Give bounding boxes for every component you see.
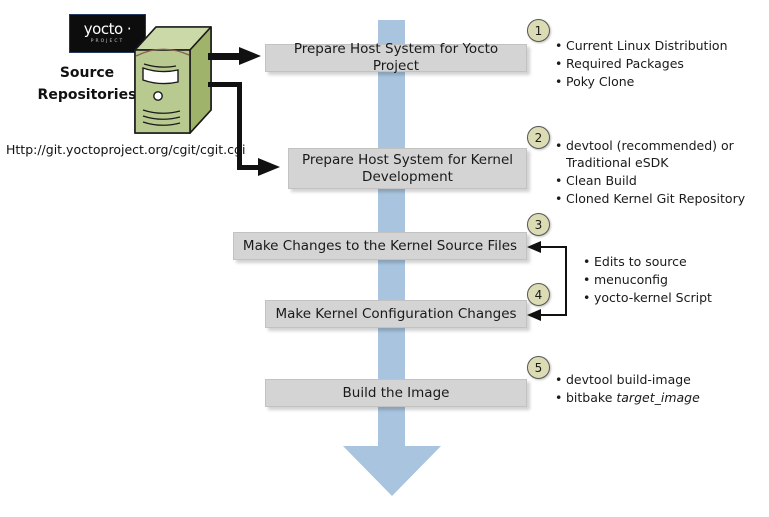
step-badge-5: 5 <box>527 356 550 379</box>
source-label-line1: Source <box>28 62 146 84</box>
list-item: Clean Build <box>566 172 767 189</box>
process-box-build-the-image[interactable]: Build the Image <box>265 379 527 407</box>
list-item: yocto-kernel Script <box>594 289 765 306</box>
list-item: Required Packages <box>566 55 767 72</box>
step-badge-4: 4 <box>527 283 550 306</box>
bitbake-command-text: bitbake <box>566 390 616 405</box>
arrowhead-to-box2-icon <box>258 158 280 176</box>
arrowhead-to-box1-icon <box>239 47 261 65</box>
list-item: Current Linux Distribution <box>566 37 767 54</box>
step-badge-1: 1 <box>527 19 550 42</box>
arrowhead-to-box3-icon <box>527 241 541 253</box>
notes-steps-3-and-4: Edits to source menuconfig yocto-kernel … <box>580 253 765 307</box>
step-badge-3: 3 <box>527 213 550 236</box>
arrowhead-to-box4-icon <box>527 309 541 321</box>
list-item: Poky Clone <box>566 73 767 90</box>
connector-source-to-box2-segment2 <box>237 82 242 170</box>
diagram-canvas: yocto PROJECT Source Repositories Http:/… <box>0 0 769 517</box>
bracket-branch-to-box4 <box>540 314 567 316</box>
list-item: devtool (recommended) or Traditional eSD… <box>566 137 767 171</box>
notes-step-2: devtool (recommended) or Traditional eSD… <box>552 137 767 208</box>
server-tower-icon <box>134 26 212 134</box>
source-label-line2: Repositories <box>28 84 146 106</box>
yocto-logo-subtext: PROJECT <box>91 38 124 45</box>
notes-step-1: Current Linux Distribution Required Pack… <box>552 37 767 91</box>
step-badge-2: 2 <box>527 126 550 149</box>
process-box-make-kernel-config-changes[interactable]: Make Kernel Configuration Changes <box>265 300 527 328</box>
flow-arrow-head <box>343 446 441 496</box>
list-item: bitbake target_image <box>566 389 767 406</box>
bracket-vertical-steps-3-4 <box>565 248 567 316</box>
source-repository-url: Http://git.yoctoproject.org/cgit/cgit.cg… <box>6 142 245 157</box>
list-item: menuconfig <box>594 271 765 288</box>
bracket-branch-to-box3 <box>540 246 567 248</box>
yocto-logo-wordmark: yocto <box>84 22 131 37</box>
notes-step-5: devtool build-image bitbake target_image <box>552 371 767 407</box>
list-item: Edits to source <box>594 253 765 270</box>
list-item: devtool build-image <box>566 371 767 388</box>
process-box-prepare-host-yocto[interactable]: Prepare Host System for Yocto Project <box>265 44 527 72</box>
process-box-prepare-host-kernel[interactable]: Prepare Host System for Kernel Developme… <box>288 148 527 189</box>
process-box-make-kernel-source-changes[interactable]: Make Changes to the Kernel Source Files <box>233 232 527 260</box>
list-item: Cloned Kernel Git Repository <box>566 190 767 207</box>
source-repositories-label: Source Repositories <box>28 62 146 106</box>
bitbake-target-placeholder: target_image <box>616 390 699 405</box>
